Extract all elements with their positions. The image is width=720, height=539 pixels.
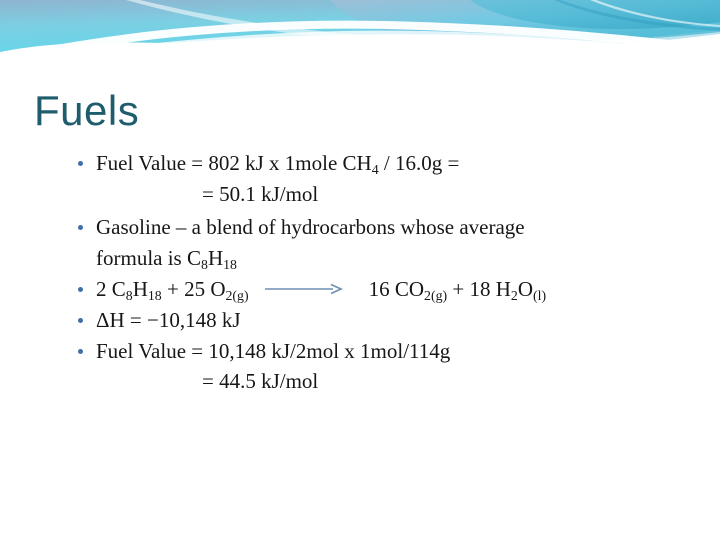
page-title: Fuels — [34, 88, 139, 134]
octane-coefficient: 2 C — [96, 277, 126, 301]
bullet-dot-icon — [78, 287, 83, 292]
bullet-dot-icon — [78, 318, 83, 323]
gasoline-description-line2: formula is C8H18 — [72, 245, 672, 273]
fuel-value-text-a: Fuel Value = 802 kJ x 1mole CH — [96, 151, 372, 175]
enthalpy-change-text: ΔH = −10,148 kJ — [96, 308, 241, 332]
ch4-subscript: 4 — [372, 162, 379, 177]
bullet-dot-icon — [78, 225, 83, 230]
list-item: Fuel Value = 10,148 kJ/2mol x 1mol/114g — [72, 338, 672, 366]
bullet-dot-icon — [78, 161, 83, 166]
equation-reactants: 2 C8H18 + 25 O2(g) — [96, 276, 249, 304]
oxygen-subscript: 2(g) — [226, 288, 249, 303]
octane-hydrogen-symbol: H — [133, 277, 148, 301]
water-term: + 18 H — [447, 277, 511, 301]
wave-banner — [0, 0, 720, 72]
presentation-slide: Fuels Fuel Value = 802 kJ x 1mole CH4 / … — [0, 0, 720, 539]
fuel-value-text-b: / 16.0g = — [379, 151, 460, 175]
water-state-subscript: (l) — [533, 288, 546, 303]
hydrogen-symbol: H — [208, 246, 223, 270]
list-item-equation: 2 C8H18 + 25 O2(g) 16 CO2(g) + 18 H2O(l) — [72, 276, 672, 304]
formula-label: formula is C — [96, 246, 201, 270]
octane-carbon-subscript: 8 — [126, 288, 133, 303]
list-item: ΔH = −10,148 kJ — [72, 307, 672, 335]
fuel-value-gasoline-text: Fuel Value = 10,148 kJ/2mol x 1mol/114g — [96, 339, 450, 363]
water-hydrogen-subscript: 2 — [511, 288, 518, 303]
slide-body: Fuel Value = 802 kJ x 1mole CH4 / 16.0g … — [72, 150, 672, 401]
co2-subscript: 2(g) — [424, 288, 447, 303]
water-oxygen-symbol: O — [518, 277, 533, 301]
gasoline-description-line1: Gasoline – a blend of hydrocarbons whose… — [96, 215, 525, 239]
carbon-subscript: 8 — [201, 257, 208, 272]
fuel-value-result-methane: = 50.1 kJ/mol — [72, 181, 672, 209]
oxygen-term: + 25 O — [162, 277, 226, 301]
hydrogen-subscript: 18 — [223, 257, 237, 272]
fuel-value-result-gasoline: = 44.5 kJ/mol — [72, 368, 672, 396]
co2-coefficient: 16 CO — [369, 277, 424, 301]
list-item: Fuel Value = 802 kJ x 1mole CH4 / 16.0g … — [72, 150, 672, 178]
equation-products: 16 CO2(g) + 18 H2O(l) — [369, 276, 547, 304]
bullet-dot-icon — [78, 349, 83, 354]
list-item: Gasoline – a blend of hydrocarbons whose… — [72, 214, 672, 242]
octane-hydrogen-subscript: 18 — [148, 288, 162, 303]
reaction-arrow-icon — [265, 276, 343, 304]
